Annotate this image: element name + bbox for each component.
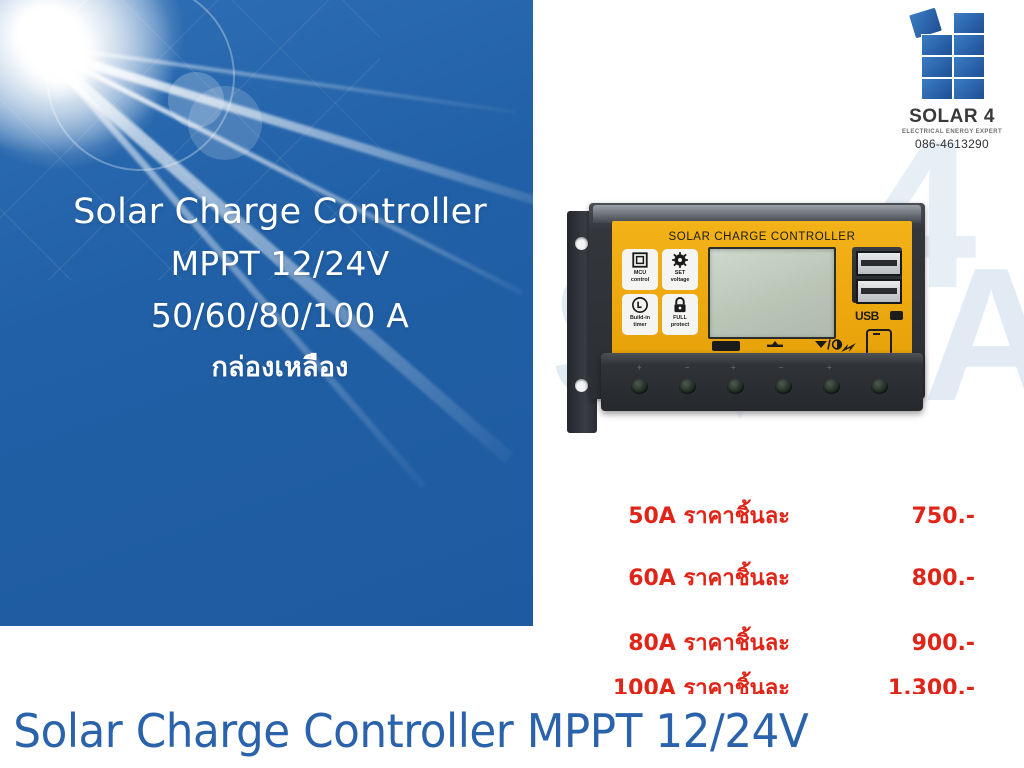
logo-phone-number: 086-4613290 bbox=[896, 137, 1008, 151]
badge-mcu-control: MCU control bbox=[622, 249, 658, 290]
usb-plug-icon bbox=[890, 311, 903, 320]
banner-text: Solar Charge Controller MPPT 12/24V bbox=[0, 704, 808, 758]
headline-block: Solar Charge Controller MPPT 12/24V 50/6… bbox=[0, 186, 560, 394]
headline-line-3: 50/60/80/100 A bbox=[0, 290, 560, 342]
badge-label-1: SET bbox=[675, 270, 685, 276]
logo-name: SOLAR 4 bbox=[896, 106, 1008, 128]
price-label: 60A ราคาชิ้นละ bbox=[575, 560, 790, 595]
screw-hole bbox=[575, 379, 588, 392]
up-arrow-icon bbox=[767, 341, 783, 351]
chip-icon bbox=[631, 251, 649, 269]
panel-cell bbox=[953, 56, 985, 78]
panel-cell bbox=[953, 34, 985, 56]
headline-line-2: MPPT 12/24V bbox=[0, 238, 560, 290]
lens-flare-dot bbox=[188, 86, 262, 160]
usb-port-upper[interactable] bbox=[856, 251, 902, 276]
badge-label-1: FULL bbox=[673, 315, 687, 321]
badge-label-2: voltage bbox=[671, 277, 690, 283]
panel-cell bbox=[921, 34, 953, 56]
sun-glow bbox=[0, 0, 190, 160]
lcd-display bbox=[708, 247, 836, 339]
lock-icon bbox=[671, 296, 689, 314]
terminal-plus-mark: + bbox=[637, 363, 642, 372]
terminal-screw bbox=[679, 379, 696, 394]
logo-tagline: ELECTRICAL ENERGY EXPERT bbox=[896, 129, 1008, 135]
terminal-screw bbox=[727, 379, 744, 394]
up-button-glyph bbox=[764, 341, 786, 351]
badge-buildin-timer: Build-in timer bbox=[622, 294, 658, 335]
terminal-screw bbox=[823, 379, 840, 394]
badge-label-1: MCU bbox=[634, 270, 646, 276]
bottom-banner: Solar Charge Controller MPPT 12/24V bbox=[0, 694, 1024, 768]
device-title: SOLAR CHARGE CONTROLLER bbox=[612, 231, 912, 243]
badge-label-2: timer bbox=[633, 322, 646, 328]
badge-label-2: protect bbox=[671, 322, 689, 328]
feature-badges: MCU control bbox=[622, 249, 698, 335]
gear-icon bbox=[671, 251, 689, 269]
clock-icon bbox=[631, 296, 649, 314]
terminal-plus-mark: + bbox=[731, 363, 736, 372]
terminal-block: + – + – + bbox=[601, 353, 923, 411]
price-label: 50A ราคาชิ้นละ bbox=[575, 498, 790, 533]
price-value: 900.- bbox=[855, 631, 975, 656]
panel-cell bbox=[953, 12, 985, 34]
headline-line-4-thai: กล่องเหลือง bbox=[0, 342, 560, 394]
terminal-minus-mark: – bbox=[779, 363, 783, 372]
terminal-minus-mark: – bbox=[685, 363, 689, 372]
advertisement-canvas: Solar Charge Controller MPPT 12/24V 50/6… bbox=[0, 0, 1024, 768]
terminal-screw bbox=[631, 379, 648, 394]
solar-panel-icon bbox=[915, 8, 989, 104]
panel-cell bbox=[953, 78, 985, 100]
panel-cell bbox=[921, 78, 953, 100]
usb-port-lower[interactable] bbox=[856, 279, 902, 304]
usb-ports[interactable] bbox=[852, 247, 902, 303]
badge-set-voltage: SET voltage bbox=[662, 249, 698, 290]
price-list: 50A ราคาชิ้นละ 750.- 60A ราคาชิ้นละ 800.… bbox=[575, 498, 975, 705]
terminal-plus-mark: + bbox=[827, 363, 832, 372]
brand-logo: SOLAR 4 ELECTRICAL ENERGY EXPERT 086-461… bbox=[896, 8, 1008, 151]
product-device: SOLAR CHARGE CONTROLLER MCU control bbox=[567, 203, 925, 450]
price-row: 80A ราคาชิ้นละ 900.- bbox=[575, 625, 975, 660]
panel-cell bbox=[921, 56, 953, 78]
badge-full-protect: FULL protect bbox=[662, 294, 698, 335]
headline-line-1: Solar Charge Controller bbox=[0, 186, 560, 238]
price-row: 50A ราคาชิ้นละ 750.- bbox=[575, 498, 975, 533]
menu-button-glyph bbox=[712, 341, 740, 351]
terminal-screw bbox=[775, 379, 792, 394]
badge-label-1: Build-in bbox=[630, 315, 650, 321]
usb-label: USB bbox=[855, 309, 879, 323]
price-row: 60A ราคาชิ้นละ 800.- bbox=[575, 560, 975, 595]
terminal-screw bbox=[871, 379, 888, 394]
screw-hole bbox=[575, 237, 588, 250]
price-label: 80A ราคาชิ้นละ bbox=[575, 625, 790, 660]
price-value: 750.- bbox=[855, 504, 975, 529]
price-value: 800.- bbox=[855, 566, 975, 591]
badge-label-2: control bbox=[631, 277, 649, 283]
